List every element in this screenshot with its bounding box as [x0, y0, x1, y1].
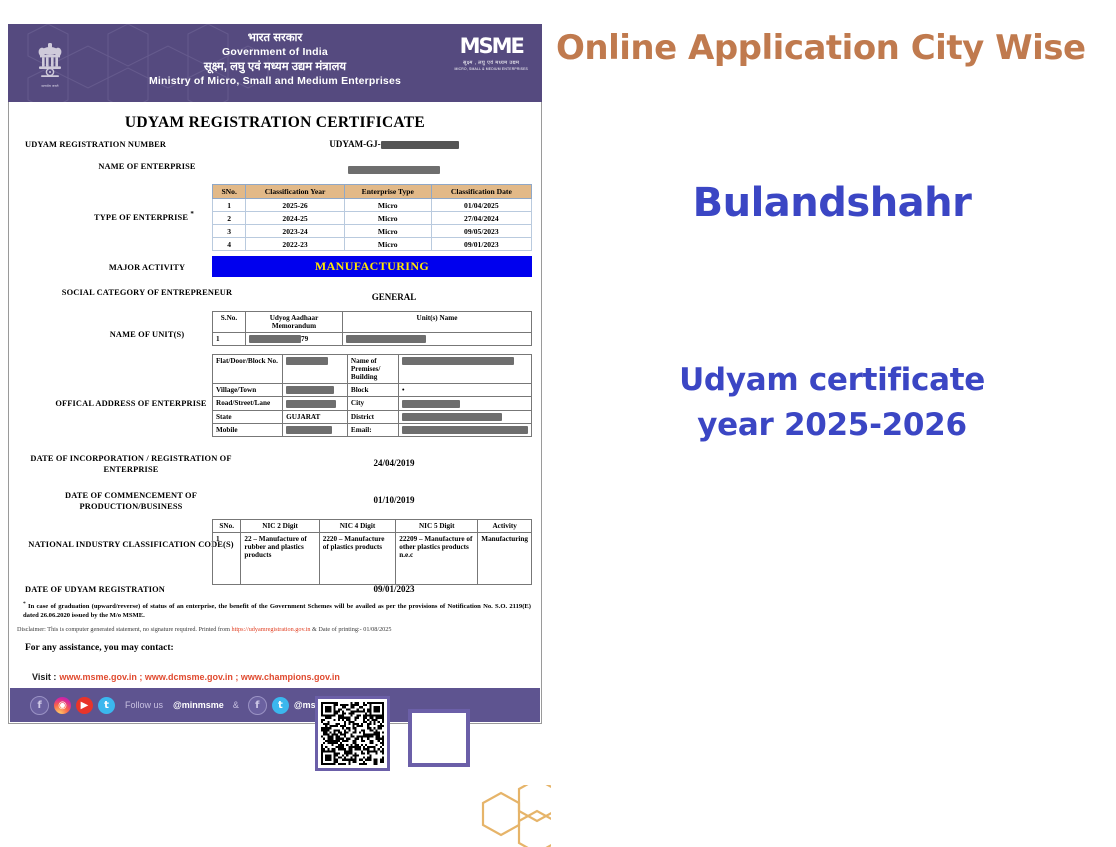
th-classification-date: Classification Date	[431, 185, 531, 199]
page-root: सत्यमेव जयते भारत सरकार Government of In…	[0, 0, 1116, 753]
td-nic4: 2220 – Manufacture of plastics products	[319, 533, 395, 585]
table-row: Flat/Door/Block No. Name of Premises/ Bu…	[213, 355, 532, 384]
table-row: State GUJARAT District	[213, 410, 532, 423]
th-classification-year: Classification Year	[246, 185, 345, 199]
instagram-icon[interactable]: ◉	[54, 697, 71, 714]
td-city-value	[399, 397, 532, 410]
ampersand: &	[233, 700, 239, 710]
td-email-value	[399, 424, 532, 437]
table-row: 22024-25Micro27/04/2024	[213, 212, 532, 225]
table-row: Mobile Email:	[213, 424, 532, 437]
commencement-label: DATE OF COMMENCEMENT OF PRODUCTION/BUSIN…	[23, 491, 239, 512]
visit-label: Visit :	[32, 672, 56, 682]
td-uam: 79	[246, 333, 343, 346]
ministry-english: Ministry of Micro, Small and Medium Ente…	[8, 75, 542, 89]
signature-box	[408, 709, 470, 767]
certificate-header-band: सत्यमेव जयते भारत सरकार Government of In…	[8, 24, 542, 102]
certificate-body: UDYAM REGISTRATION CERTIFICATE UDYAM REG…	[8, 102, 542, 724]
msme-logo-mark: MSME	[454, 36, 528, 57]
subtitle-line-2: year 2025-2026	[697, 407, 966, 443]
td-mobile-value	[283, 424, 348, 437]
reg-number-label: UDYAM REGISTRATION NUMBER	[25, 140, 245, 151]
follow-us-text: Follow us	[125, 700, 163, 710]
certificate-title: UDYAM REGISTRATION CERTIFICATE	[9, 102, 541, 132]
table-row: Village/Town Block •	[213, 384, 532, 397]
disclaimer-pre: Disclaimer: This is computer generated s…	[17, 626, 232, 633]
td-district-value	[399, 410, 532, 423]
disclaimer-post: & Date of printing:- 01/08/2025	[311, 626, 392, 633]
assistance-heading: For any assistance, you may contact:	[25, 643, 174, 653]
td-block-value: •	[399, 384, 532, 397]
th-enterprise-type: Enterprise Type	[344, 185, 431, 199]
enterprise-name-value	[259, 161, 529, 179]
td-sno: 1	[213, 533, 241, 585]
redacted-enterprise-name	[348, 166, 440, 174]
td-nic5: 22209 – Manufacture of other plastics pr…	[396, 533, 478, 585]
major-activity-value: MANUFACTURING	[212, 256, 532, 277]
td-state-value: GUJARAT	[283, 410, 348, 423]
twitter-icon-2[interactable]: t	[272, 697, 289, 714]
udyam-reg-date-value: 09/01/2023	[259, 584, 529, 594]
right-text-panel: Online Application City Wise Bulandshahr…	[548, 0, 1116, 753]
td-road-value	[283, 397, 348, 410]
table-header-row: SNo. Classification Year Enterprise Type…	[213, 185, 532, 199]
td-district-label: District	[347, 410, 398, 423]
incorporation-label: DATE OF INCORPORATION / REGISTRATION OF …	[23, 454, 239, 475]
th-sno: S.No.	[213, 312, 246, 333]
td-flat-label: Flat/Door/Block No.	[213, 355, 283, 384]
td-mobile-label: Mobile	[213, 424, 283, 437]
handle-minmsme[interactable]: @minmsme	[173, 700, 224, 710]
nic-label: NATIONAL INDUSTRY CLASSIFICATION CODE(S)	[23, 540, 239, 551]
qr-code	[315, 696, 390, 771]
table-row: 1 79	[213, 333, 532, 346]
th-activity: Activity	[478, 520, 532, 533]
subtitle-line-1: Udyam certificate	[679, 362, 985, 398]
msme-logo-hindi: सूक्ष्म , लघु एवं मध्यम उद्यम	[454, 60, 528, 66]
td-flat-value	[283, 355, 348, 384]
units-table: S.No. Udyog Aadhaar Memorandum Unit(s) N…	[212, 311, 532, 346]
udyam-registration-link[interactable]: https://udyamregistration.gov.in	[232, 626, 311, 633]
visit-links[interactable]: www.msme.gov.in ; www.dcmsme.gov.in ; ww…	[59, 672, 340, 682]
table-header-row: S.No. Udyog Aadhaar Memorandum Unit(s) N…	[213, 312, 532, 333]
td-block-label: Block	[347, 384, 398, 397]
table-row: 12025-26Micro01/04/2025	[213, 199, 532, 212]
th-sno: SNo.	[213, 185, 246, 199]
enterprise-name-label: NAME OF ENTERPRISE	[49, 162, 245, 173]
th-nic5: NIC 5 Digit	[396, 520, 478, 533]
table-header-row: SNo. NIC 2 Digit NIC 4 Digit NIC 5 Digit…	[213, 520, 532, 533]
redacted-reg-number	[381, 141, 459, 149]
th-nic2: NIC 2 Digit	[241, 520, 319, 533]
th-udyog-aadhaar: Udyog Aadhaar Memorandum	[246, 312, 343, 333]
th-sno: SNo.	[213, 520, 241, 533]
twitter-icon[interactable]: t	[98, 697, 115, 714]
td-activity: Manufacturing	[478, 533, 532, 585]
udyam-certificate-image: सत्यमेव जयते भारत सरकार Government of In…	[8, 24, 542, 746]
udyam-reg-date-label: DATE OF UDYAM REGISTRATION	[25, 585, 245, 596]
td-sno: 1	[213, 333, 246, 346]
address-table: Flat/Door/Block No. Name of Premises/ Bu…	[212, 354, 532, 437]
city-name: Bulandshahr	[548, 180, 1116, 226]
facebook-icon[interactable]: f	[30, 696, 49, 715]
table-row: 1 22 – Manufacture of rubber and plastic…	[213, 533, 532, 585]
th-nic4: NIC 4 Digit	[319, 520, 395, 533]
td-road-label: Road/Street/Lane	[213, 397, 283, 410]
footnote-text: * In case of graduation (upward/reverse)…	[23, 601, 531, 621]
msme-logo-icon: MSME सूक्ष्म , लघु एवं मध्यम उद्यम MICRO…	[454, 36, 528, 71]
nic-table: SNo. NIC 2 Digit NIC 4 Digit NIC 5 Digit…	[212, 519, 532, 585]
td-premises-value	[399, 355, 532, 384]
table-row: Road/Street/Lane City	[213, 397, 532, 410]
table-row: 32023-24Micro09/05/2023	[213, 225, 532, 238]
incorporation-value: 24/04/2019	[259, 458, 529, 468]
th-units-name: Unit(s) Name	[343, 312, 532, 333]
table-row: 42022-23Micro09/01/2023	[213, 238, 532, 251]
enterprise-type-table: SNo. Classification Year Enterprise Type…	[212, 184, 532, 251]
msme-logo-english: MICRO, SMALL & MEDIUM ENTERPRISES	[454, 67, 528, 71]
td-state-label: State	[213, 410, 283, 423]
td-city-label: City	[347, 397, 398, 410]
td-unit-name	[343, 333, 532, 346]
page-title: Online Application City Wise	[556, 28, 1116, 68]
certificate-year-subtitle: Udyam certificate year 2025-2026	[548, 358, 1116, 448]
td-village-value	[283, 384, 348, 397]
address-label: OFFICAL ADDRESS OF ENTERPRISE	[23, 399, 239, 410]
social-category-value: GENERAL	[259, 292, 529, 302]
commencement-value: 01/10/2019	[259, 495, 529, 505]
reg-number-value: UDYAM-GJ-	[259, 139, 529, 149]
td-email-label: Email:	[347, 424, 398, 437]
facebook-icon-2[interactable]: f	[248, 696, 267, 715]
hexagon-decoration-icon	[469, 785, 551, 847]
td-village-label: Village/Town	[213, 384, 283, 397]
td-premises-label: Name of Premises/ Building	[347, 355, 398, 384]
social-category-label: SOCIAL CATEGORY OF ENTREPRENEUR	[49, 288, 245, 299]
youtube-icon[interactable]: ▶	[76, 697, 93, 714]
reg-number-prefix: UDYAM-GJ-	[329, 139, 380, 149]
td-nic2: 22 – Manufacture of rubber and plastics …	[241, 533, 319, 585]
visit-bar: Visit : www.msme.gov.in ; www.dcmsme.gov…	[10, 666, 540, 688]
disclaimer-text: Disclaimer: This is computer generated s…	[17, 626, 535, 634]
